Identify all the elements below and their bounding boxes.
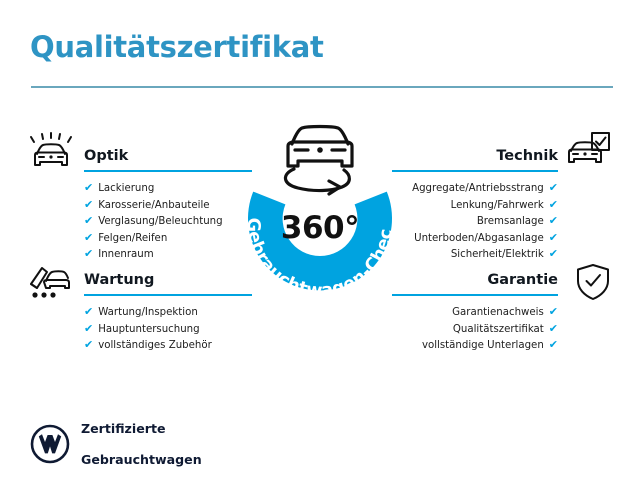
section-wartung-underline [84,294,252,296]
checklist-item: ✔vollständiges Zubehör [84,337,252,354]
check-icon: ✔ [84,213,93,229]
checklist-item-label: Wartung/Inspektion [98,305,198,321]
checklist-item-label: Lackierung [98,181,154,197]
shield-check-icon [570,262,616,302]
check-icon: ✔ [84,246,93,262]
checklist-item-label: Qualitätszertifikat [453,322,544,338]
car-checkbox-icon [566,130,612,170]
section-optik-title: Optik [84,146,252,166]
360-badge: Gebrauchtwagen-Check 360° [232,118,408,318]
check-icon: ✔ [549,321,558,337]
checklist-item: Bremsanlage✔ [392,213,558,230]
page-title: Qualitätszertifikat [30,30,324,64]
checklist-item-label: Sicherheit/Elektrik [451,247,544,263]
checklist-item-label: Verglasung/Beleuchtung [98,214,222,230]
check-icon: ✔ [84,321,93,337]
vw-footer-line1: Zertifizierte [81,421,202,437]
checklist-item-label: Lenkung/Fahrwerk [451,198,544,214]
check-icon: ✔ [549,304,558,320]
checklist-item-label: Karosserie/Anbauteile [98,198,209,214]
checklist-item: Aggregate/Antriebsstrang✔ [392,180,558,197]
checklist-item: ✔Lackierung [84,180,252,197]
section-garantie-list: Garantienachweis✔Qualitätszertifikat✔vol… [392,304,558,354]
section-optik-list: ✔Lackierung✔Karosserie/Anbauteile✔Vergla… [84,180,252,263]
section-technik-underline [392,170,558,172]
car-shine-icon [28,132,74,172]
checklist-item-label: vollständiges Zubehör [98,338,212,354]
certificate-page: Qualitätszertifikat Optik ✔Lackierung✔Ka… [0,0,640,480]
car-service-pen-icon [26,261,72,301]
check-icon: ✔ [549,246,558,262]
checklist-item: Garantienachweis✔ [392,304,558,321]
section-wartung-title: Wartung [84,270,252,290]
section-garantie-head: Garantie [392,270,558,296]
car-rotation-icon [285,127,352,195]
checklist-item: ✔Felgen/Reifen [84,230,252,247]
checklist-item-label: vollständige Unterlagen [422,338,544,354]
section-wartung-list: ✔Wartung/Inspektion✔Hauptuntersuchung✔vo… [84,304,252,354]
section-garantie-title: Garantie [392,270,558,290]
section-optik-head: Optik [84,146,252,172]
section-optik-underline [84,170,252,172]
vw-logo [30,424,70,464]
checklist-item-label: Garantienachweis [452,305,544,321]
checklist-item: Sicherheit/Elektrik✔ [392,246,558,263]
section-garantie-underline [392,294,558,296]
check-icon: ✔ [84,197,93,213]
check-icon: ✔ [549,180,558,196]
checklist-item-label: Bremsanlage [477,214,544,230]
section-technik: Technik Aggregate/Antriebsstrang✔Lenkung… [392,146,558,263]
checklist-item-label: Aggregate/Antriebsstrang [412,181,544,197]
section-technik-title: Technik [392,146,558,166]
checklist-item-label: Innenraum [98,247,153,263]
checklist-item: ✔Innenraum [84,246,252,263]
check-icon: ✔ [549,230,558,246]
check-icon: ✔ [549,197,558,213]
checklist-item-label: Felgen/Reifen [98,231,167,247]
header-divider [31,86,613,88]
check-icon: ✔ [84,230,93,246]
section-garantie: Garantie Garantienachweis✔Qualitätszerti… [392,270,558,354]
checklist-item-label: Hauptuntersuchung [98,322,199,338]
checklist-item: vollständige Unterlagen✔ [392,337,558,354]
checklist-item: ✔Hauptuntersuchung [84,321,252,338]
section-optik: Optik ✔Lackierung✔Karosserie/Anbauteile✔… [84,146,252,263]
vw-footer: Zertifizierte Gebrauchtwagen [30,405,202,483]
vw-footer-line2: Gebrauchtwagen [81,452,202,468]
section-technik-list: Aggregate/Antriebsstrang✔Lenkung/Fahrwer… [392,180,558,263]
section-wartung: Wartung ✔Wartung/Inspektion✔Hauptuntersu… [84,270,252,354]
section-technik-head: Technik [392,146,558,172]
checklist-item: ✔Wartung/Inspektion [84,304,252,321]
check-icon: ✔ [84,337,93,353]
checklist-item: ✔Verglasung/Beleuchtung [84,213,252,230]
checklist-item: Qualitätszertifikat✔ [392,321,558,338]
check-icon: ✔ [84,180,93,196]
checklist-item: ✔Karosserie/Anbauteile [84,197,252,214]
check-icon: ✔ [549,337,558,353]
checklist-item: Unterboden/Abgasanlage✔ [392,230,558,247]
check-icon: ✔ [84,304,93,320]
badge-center-label: 360° [232,210,408,246]
check-icon: ✔ [549,213,558,229]
section-wartung-head: Wartung [84,270,252,296]
checklist-item-label: Unterboden/Abgasanlage [414,231,544,247]
vw-footer-text: Zertifizierte Gebrauchtwagen [81,405,202,483]
checklist-item: Lenkung/Fahrwerk✔ [392,197,558,214]
